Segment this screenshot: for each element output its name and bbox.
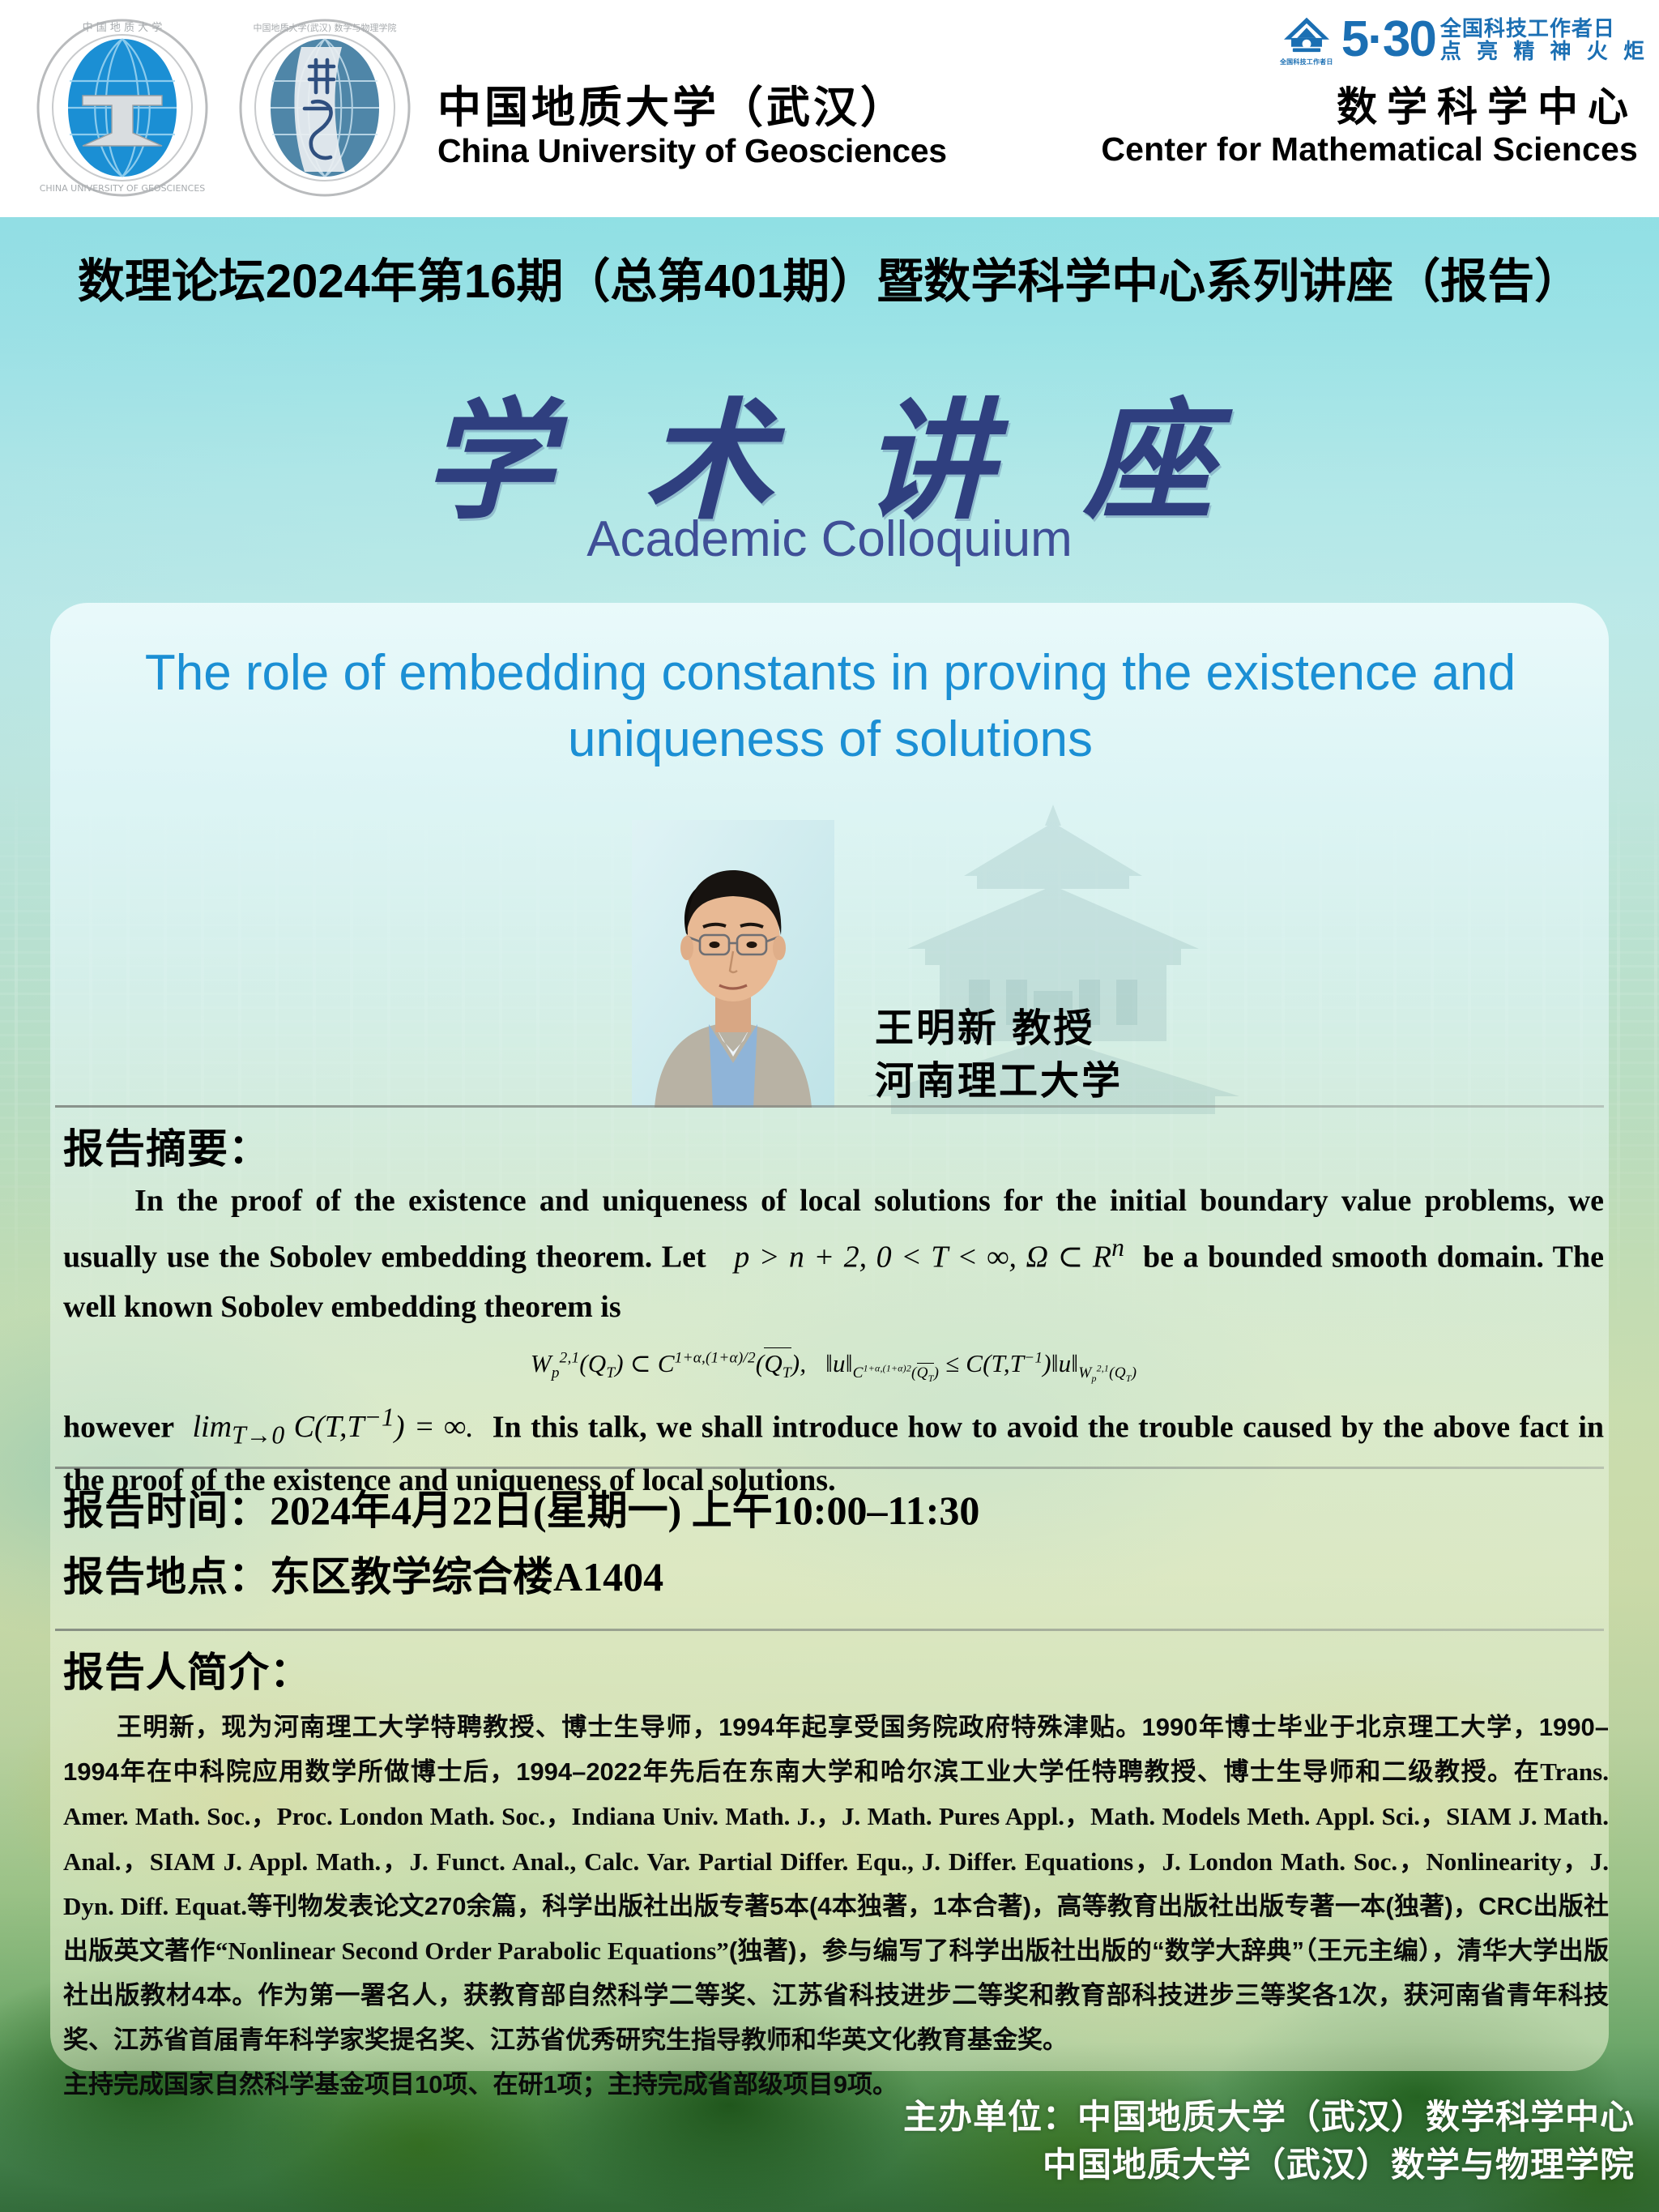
center-name-block: 数学科学中心 Center for Mathematical Sciences xyxy=(1101,85,1638,169)
organizer-footer: 主办单位：中国地质大学（武汉）数学科学中心 中国地质大学（武汉）数学与物理学院 xyxy=(903,2093,1635,2189)
speaker-portrait-wang-mingxin xyxy=(632,820,834,1108)
talk-time-label: 报告时间： xyxy=(63,1488,270,1533)
university-name-en: China University of Geosciences xyxy=(437,131,947,171)
divider-above-bio xyxy=(55,1629,1604,1631)
divider-above-abstract xyxy=(55,1105,1604,1108)
school-of-mathematics-and-physics-crest: 中国地质大学(武汉) 数学与物理学院 xyxy=(235,18,415,198)
colloquium-subtitle-en: Academic Colloquium xyxy=(0,510,1659,568)
abstract-heading: 报告摘要： xyxy=(63,1117,270,1175)
speaker-name: 王明新 教授 xyxy=(875,1003,1123,1056)
svg-text:中 国 地 质 大 学: 中 国 地 质 大 学 xyxy=(83,21,163,34)
talk-time-value: 2024年4月22日(星期一) 上午10:00–11:30 xyxy=(270,1488,979,1533)
center-name-cn: 数学科学中心 xyxy=(1101,85,1638,130)
center-name-en: Center for Mathematical Sciences xyxy=(1101,130,1638,169)
page-header: 中 国 地 质 大 学 CHINA UNIVERSITY OF GEOSCIEN… xyxy=(0,0,1659,217)
talk-place-row: 报告地点：东区教学综合楼A1404 xyxy=(63,1544,663,1603)
bio-book-title: “Nonlinear Second Order Parabolic Equati… xyxy=(215,1937,729,1965)
bio-heading: 报告人简介： xyxy=(63,1640,311,1698)
science-day-date: 5·30 xyxy=(1341,19,1435,62)
issue-line: 数理论坛2024年第16期（总第401期）暨数学科学中心系列讲座（报告） xyxy=(0,243,1659,311)
abstract-text-c: however xyxy=(63,1410,174,1444)
science-day-slogan-line2: 点 亮 精 神 火 炬 xyxy=(1440,40,1649,62)
abstract-paragraph-1: In the proof of the existence and unique… xyxy=(63,1176,1604,1332)
organizer-line-1: 主办单位：中国地质大学（武汉）数学科学中心 xyxy=(903,2093,1635,2142)
sobolev-embedding-formula: Wp2,1(QT) ⊂ C1+α,(1+α)/2(QT), ‖u‖C1+α,(1… xyxy=(63,1343,1604,1386)
science-day-slogan: 全国科技工作者日 点 亮 精 神 火 炬 xyxy=(1440,17,1649,62)
svg-text:CHINA UNIVERSITY OF GEOSCIENCE: CHINA UNIVERSITY OF GEOSCIENCES xyxy=(40,183,206,194)
bio-text-1: 王明新，现为河南理工大学特聘教授、博士生导师，1994年起享受国务院政府特殊津贴… xyxy=(63,1713,1609,1786)
talk-place-label: 报告地点： xyxy=(63,1554,270,1599)
svg-text:中国地质大学(武汉) 数学与物理学院: 中国地质大学(武汉) 数学与物理学院 xyxy=(253,22,396,33)
abstract-inline-math-2: limT→0 C(T,T−1) = ∞. xyxy=(183,1410,483,1444)
speaker-affiliation: 河南理工大学 xyxy=(875,1056,1123,1108)
bio-body: 王明新，现为河南理工大学特聘教授、博士生导师，1994年起享受国务院政府特殊津贴… xyxy=(63,1705,1609,2107)
science-day-slogan-line1: 全国科技工作者日 xyxy=(1440,17,1649,40)
science-workers-day-badge: 全国科技工作者日 5·30 全国科技工作者日 点 亮 精 神 火 炬 xyxy=(1277,15,1649,65)
university-name-cn: 中国地质大学（武汉） xyxy=(437,85,947,131)
bio-paragraph-1: 王明新，现为河南理工大学特聘教授、博士生导师，1994年起享受国务院政府特殊津贴… xyxy=(63,1705,1609,2062)
science-day-logo-caption: 全国科技工作者日 xyxy=(1277,58,1337,66)
talk-time-row: 报告时间：2024年4月22日(星期一) 上午10:00–11:30 xyxy=(63,1478,979,1536)
science-day-torch-icon: 全国科技工作者日 xyxy=(1277,15,1337,65)
abstract-body: In the proof of the existence and unique… xyxy=(63,1176,1604,1506)
abstract-inline-math-1-exponent: n xyxy=(1111,1233,1124,1262)
organizer-line-2: 中国地质大学（武汉）数学与物理学院 xyxy=(903,2141,1635,2189)
talk-place-value: 东区教学综合楼A1404 xyxy=(270,1554,663,1599)
speaker-info-block: 王明新 教授 河南理工大学 xyxy=(875,1003,1123,1108)
university-name-block: 中国地质大学（武汉） China University of Geoscienc… xyxy=(437,85,947,171)
abstract-inline-math-1: p > n + 2, 0 < T < ∞, Ω ⊂ R xyxy=(734,1240,1111,1274)
talk-title: The role of embedding constants in provi… xyxy=(97,640,1563,773)
china-university-of-geosciences-crest: 中 国 地 质 大 学 CHINA UNIVERSITY OF GEOSCIEN… xyxy=(32,18,212,198)
bio-text-4: 主持完成国家自然科学基金项目10项、在研1项；主持完成省部级项目9项。 xyxy=(63,2070,898,2099)
